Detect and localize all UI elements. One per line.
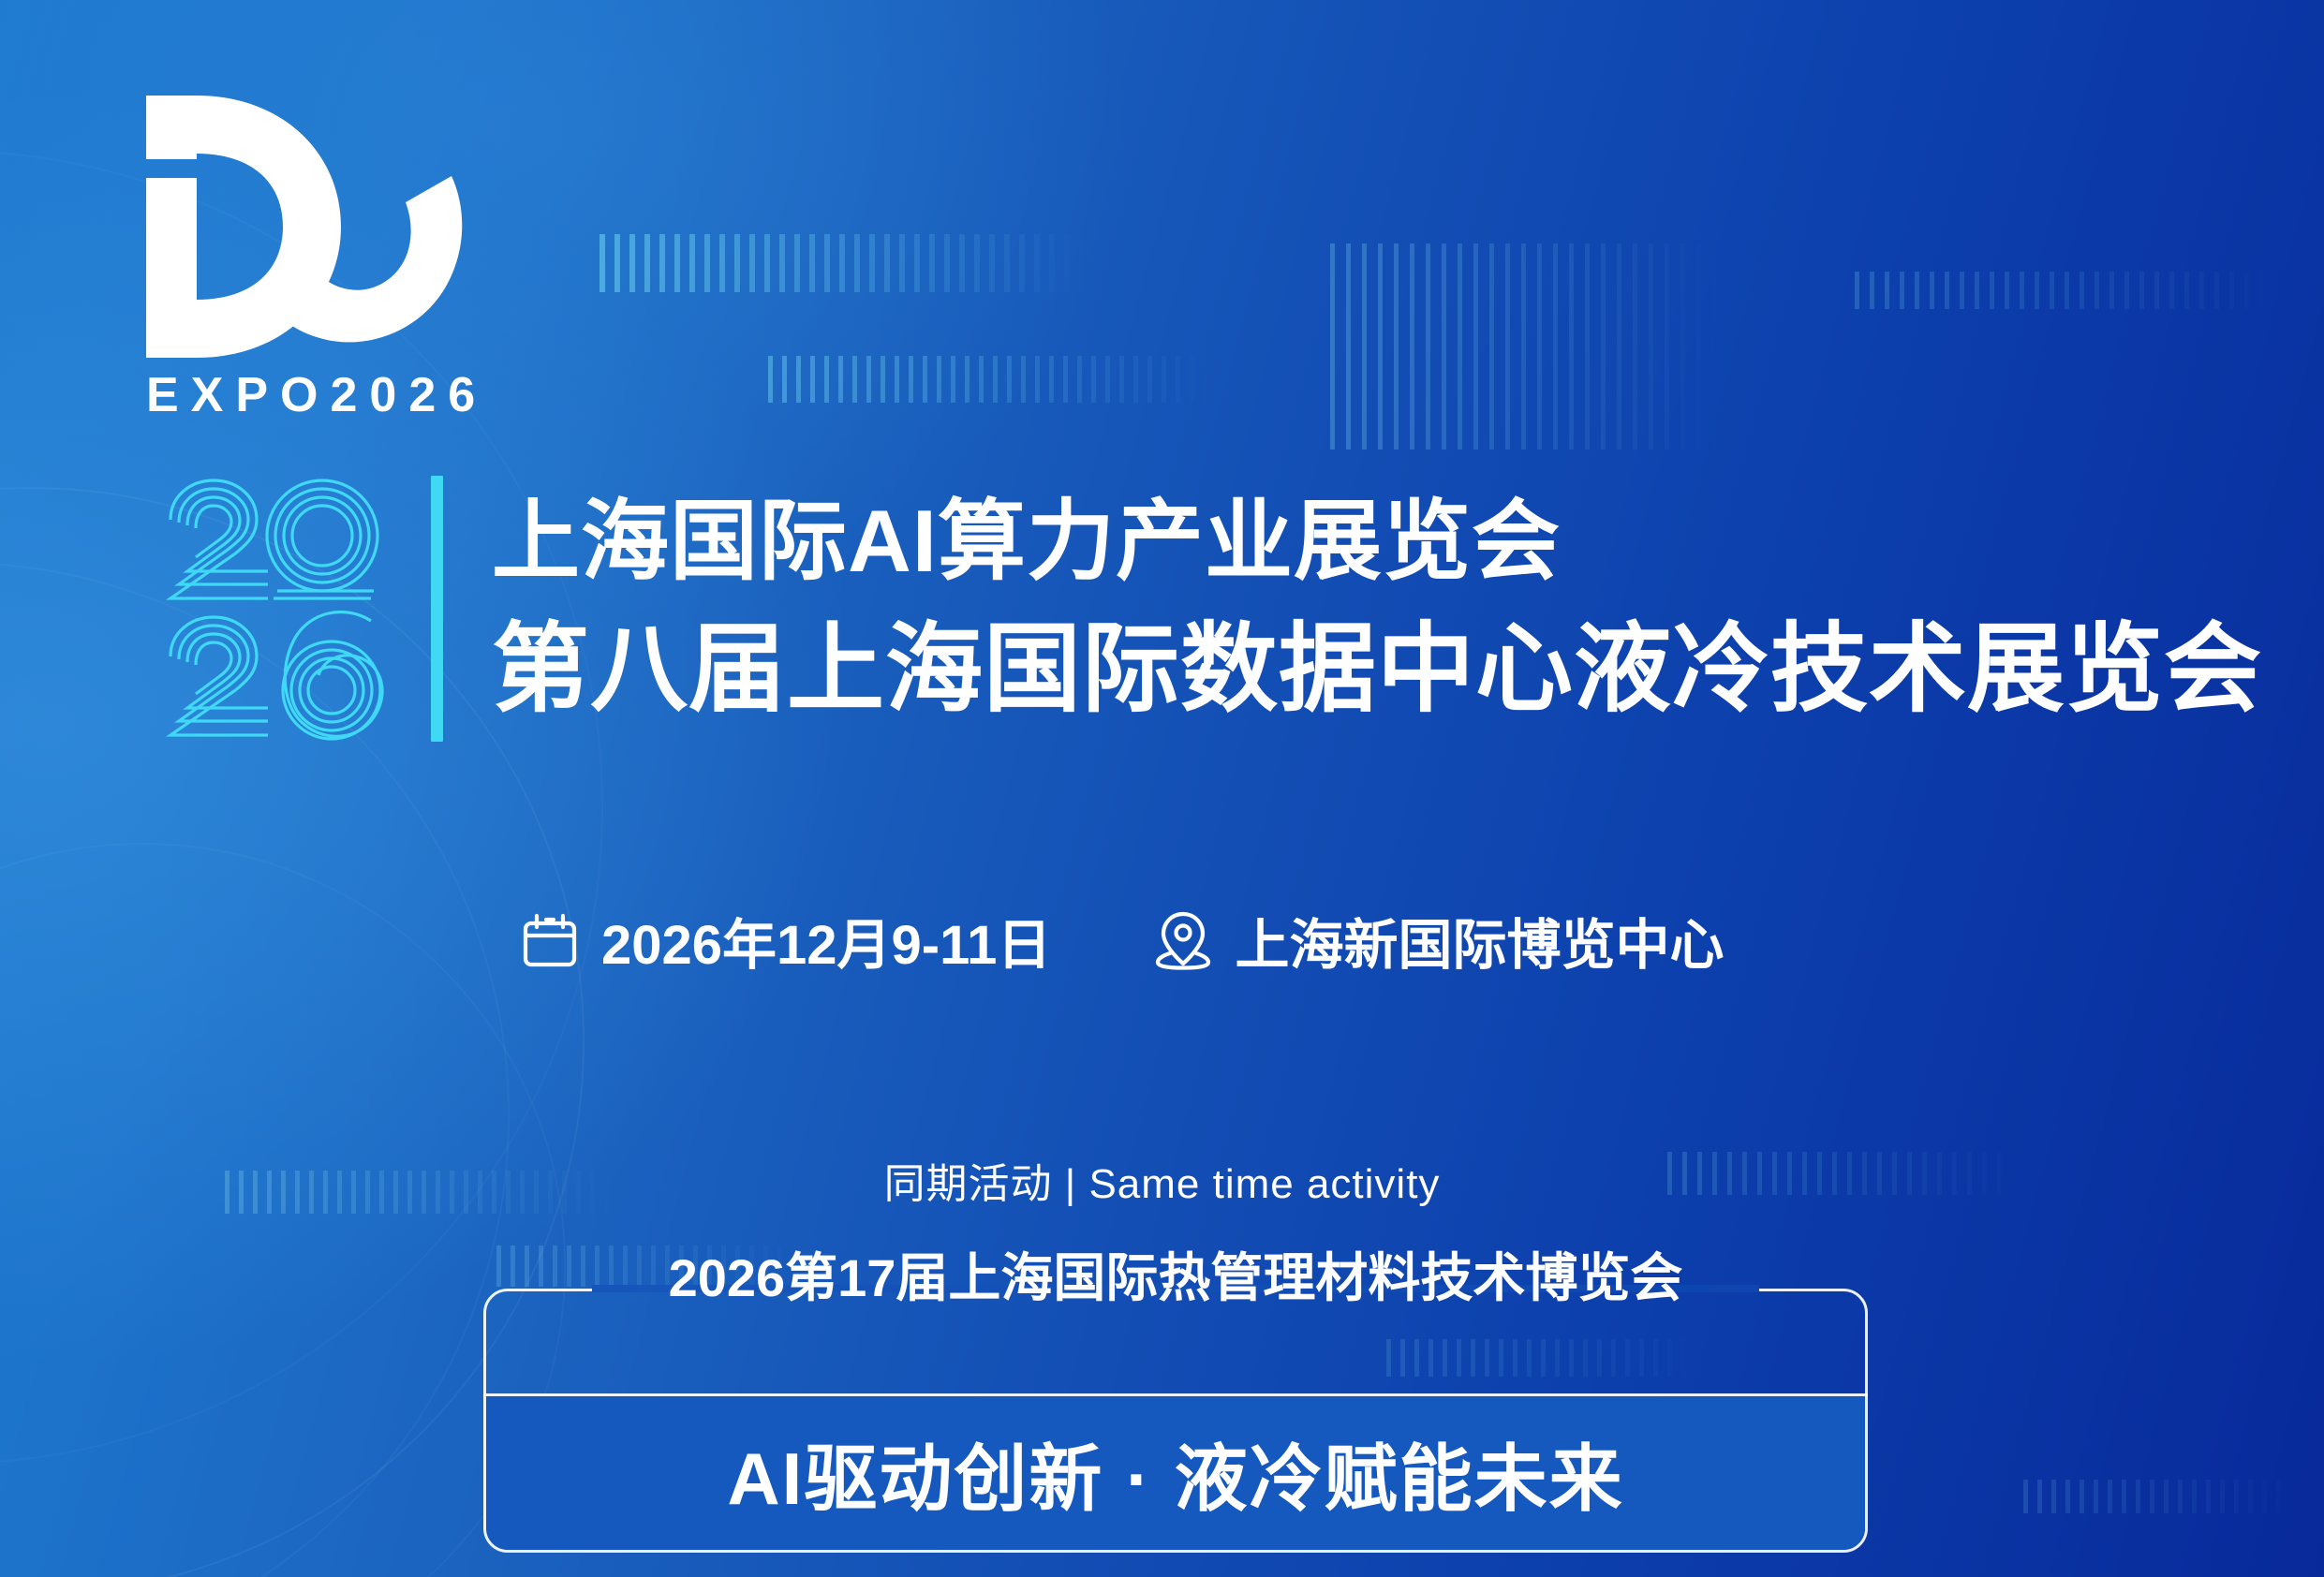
- title-line-1: 上海国际AI算力产业展览会: [492, 485, 2262, 597]
- event-date: 2026年12月9-11日: [521, 901, 1051, 980]
- panel-slogan: AI驱动创新 · 液冷赋能未来: [727, 1421, 1623, 1525]
- barcode-decoration: [1855, 272, 2286, 309]
- event-meta-row: 2026年12月9-11日 上海新国际博览中心: [521, 901, 1724, 980]
- barcode-decoration: [2023, 1480, 2304, 1513]
- barcode-decoration: [1330, 243, 1724, 450]
- hero-titles: 上海国际AI算力产业展览会 第八届上海国际数据中心液冷技术展览会: [492, 485, 2262, 731]
- year-2026-graphic: [157, 473, 392, 744]
- event-banner: EXPO2026: [0, 0, 2324, 1577]
- title-divider: [431, 476, 443, 742]
- co-located-event-panel: 2026第17届上海国际热管理材料技术博览会 AI驱动创新 · 液冷赋能未来: [483, 1289, 1868, 1553]
- title-line-2: 第八届上海国际数据中心液冷技术展览会: [492, 608, 2262, 732]
- same-time-activity-label: 同期活动 | Same time activity: [0, 1150, 2324, 1210]
- event-date-text: 2026年12月9-11日: [601, 901, 1051, 980]
- barcode-decoration: [600, 234, 1087, 292]
- logo-wordmark: EXPO2026: [146, 371, 487, 420]
- brand-logo: EXPO2026: [142, 86, 487, 420]
- idc-logo-mark: [142, 86, 470, 358]
- panel-caption: 2026第17届上海国际热管理材料技术博览会: [483, 1236, 1868, 1312]
- calendar-icon: [521, 911, 579, 969]
- event-venue-text: 上海新国际博览中心: [1235, 901, 1724, 980]
- panel-body: AI驱动创新 · 液冷赋能未来: [486, 1396, 1865, 1550]
- event-venue: 上海新国际博览中心: [1154, 901, 1724, 980]
- hero-title-row: 上海国际AI算力产业展览会 第八届上海国际数据中心液冷技术展览会: [157, 473, 2262, 744]
- barcode-decoration: [768, 356, 1218, 403]
- location-pin-icon: [1154, 909, 1212, 971]
- decorative-arc: [0, 843, 566, 1577]
